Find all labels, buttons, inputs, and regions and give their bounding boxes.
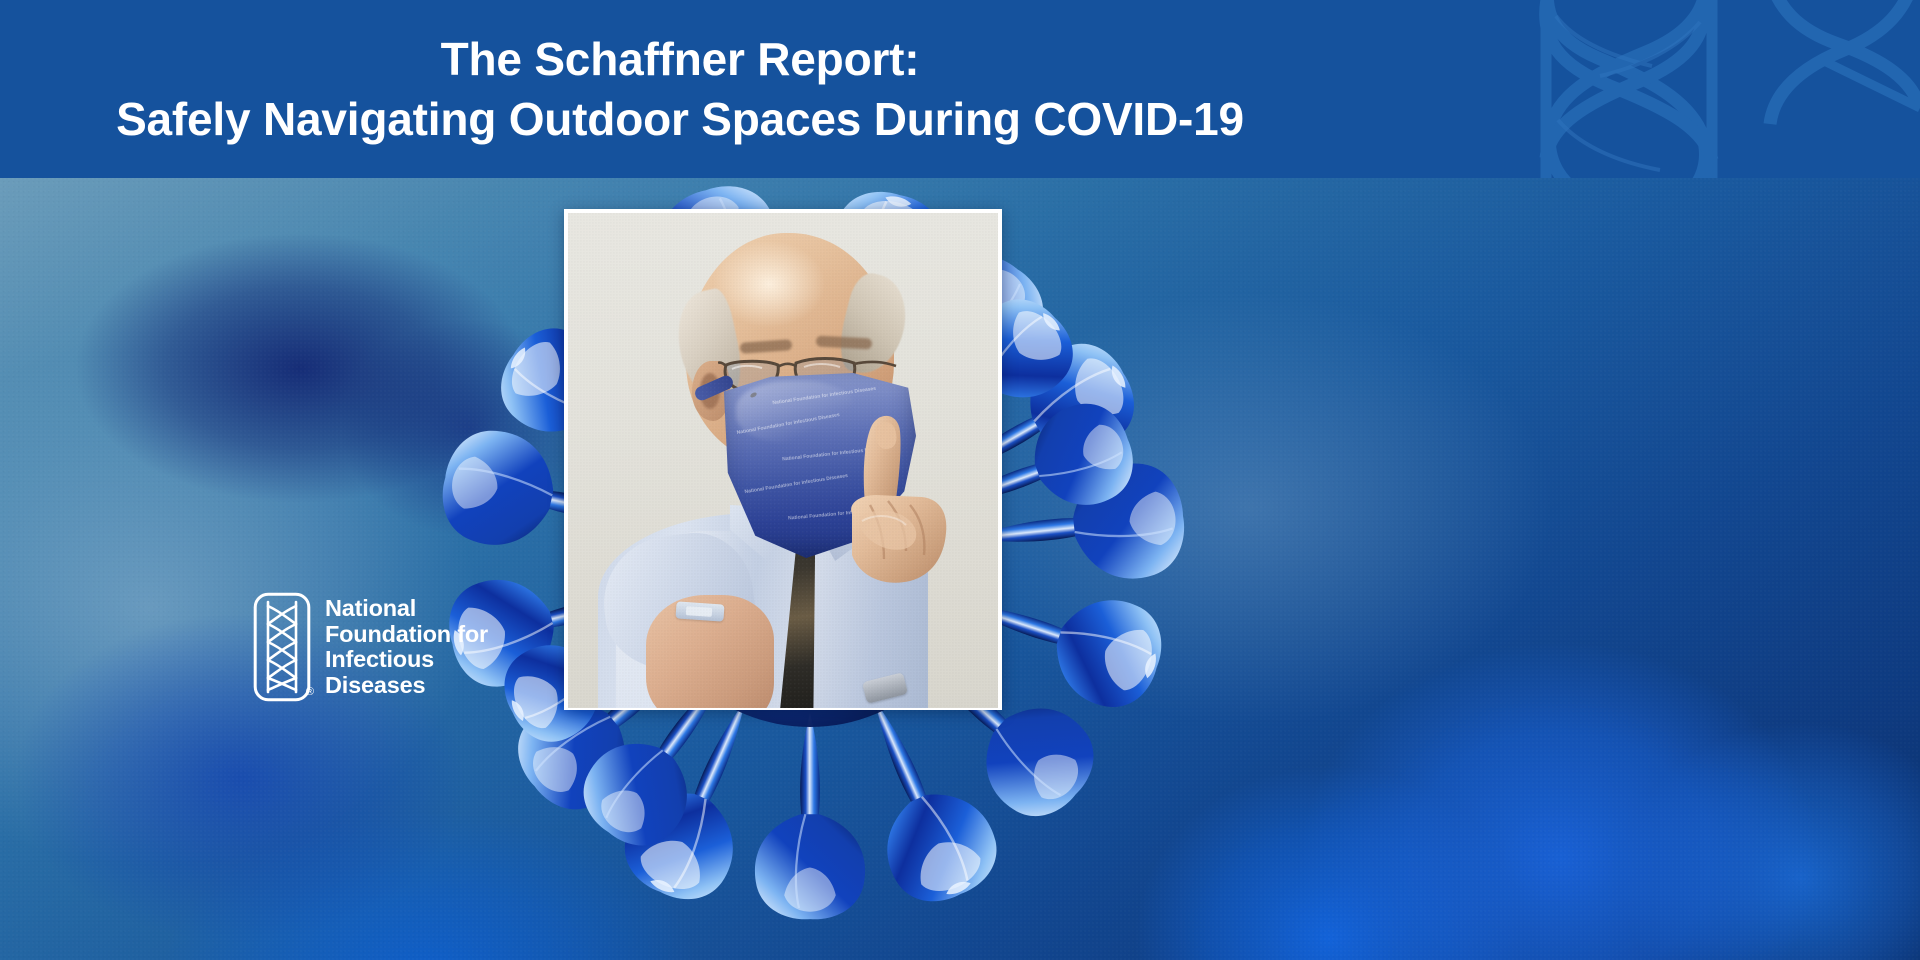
page-title: The Schaffner Report: Safely Navigating … [0,0,1360,178]
page-title-line-1: The Schaffner Report: [441,31,920,87]
schaffner-photo: National Foundation for Infectious Disea… [568,213,998,708]
bandage-pad [686,606,713,617]
nfid-logo-line-2: Foundation for [325,622,488,648]
mask-print-line: National Foundation for Infectious Disea… [736,412,840,436]
nfid-logo-text: National Foundation for Infectious Disea… [325,596,488,698]
registered-trademark-symbol: ® [306,687,314,698]
nfid-dna-helix-mark: ® [253,592,311,702]
nfid-logo-line-3: Infectious [325,647,488,673]
dna-helix-ribbon-pattern [1360,0,1920,178]
page-title-line-2: Safely Navigating Outdoor Spaces During … [116,91,1244,147]
nfid-logo-line-1: National [325,596,488,622]
thumbs-up-hand [836,409,956,589]
header-banner: The Schaffner Report: Safely Navigating … [0,0,1920,178]
mask-print-line: National Foundation for Infectious Disea… [772,386,876,406]
mask-print-line: National Foundation for Infectious Disea… [744,473,848,495]
poster-canvas: National Foundation for Infectious Disea… [0,0,1920,960]
schaffner-photo-frame: National Foundation for Infectious Disea… [564,209,1002,710]
nfid-logo-line-4: Diseases [325,673,488,699]
nfid-logo[interactable]: ® National Foundation for Infectious Dis… [253,588,493,706]
